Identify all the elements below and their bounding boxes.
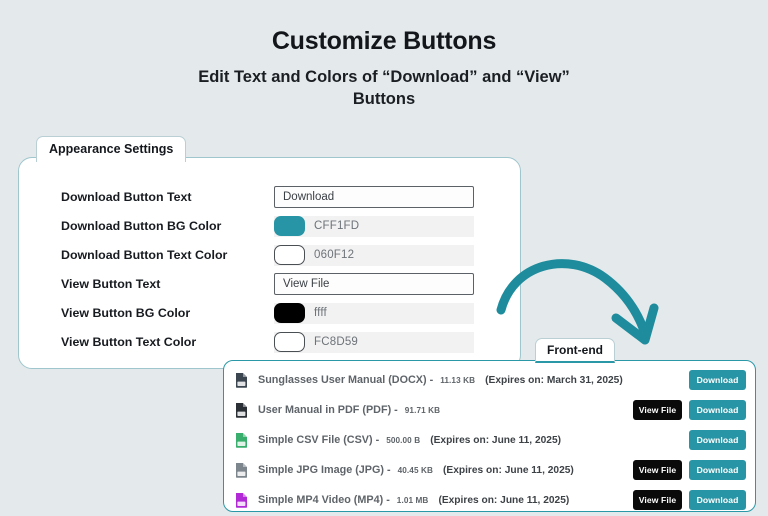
file-name: Sunglasses User Manual (DOCX) - bbox=[258, 374, 433, 386]
download-button[interactable]: Download bbox=[689, 460, 746, 480]
file-info: Simple MP4 Video (MP4) -1.01 MB(Expires … bbox=[258, 494, 633, 506]
page-header: Customize Buttons Edit Text and Colors o… bbox=[0, 26, 768, 111]
file-row: Simple CSV File (CSV) -500.00 B(Expires … bbox=[224, 425, 755, 455]
docx-file-icon bbox=[234, 372, 249, 388]
color-swatch[interactable] bbox=[274, 216, 305, 236]
view-file-button[interactable]: View File bbox=[633, 460, 682, 480]
file-size: 40.45 KB bbox=[398, 466, 433, 475]
settings-row: Download Button TextDownload bbox=[19, 186, 520, 208]
file-name: User Manual in PDF (PDF) - bbox=[258, 404, 398, 416]
color-picker-field[interactable]: 060F12 bbox=[274, 245, 474, 266]
button-text-input[interactable]: View File bbox=[274, 273, 474, 295]
settings-row-label: Download Button BG Color bbox=[61, 219, 274, 233]
row-actions: View FileDownload bbox=[633, 430, 746, 450]
file-size: 11.13 KB bbox=[440, 376, 475, 385]
color-hex-value: ffff bbox=[314, 307, 327, 319]
tab-appearance-settings[interactable]: Appearance Settings bbox=[36, 136, 186, 162]
row-actions: View FileDownload bbox=[633, 460, 746, 480]
color-hex-value: 060F12 bbox=[314, 249, 354, 261]
file-size: 500.00 B bbox=[386, 436, 420, 445]
color-hex-value: FC8D59 bbox=[314, 336, 358, 348]
page-title: Customize Buttons bbox=[0, 26, 768, 56]
jpg-file-icon bbox=[234, 462, 249, 478]
file-size: 91.71 KB bbox=[405, 406, 440, 415]
file-size: 1.01 MB bbox=[397, 496, 429, 505]
settings-row-label: View Button Text Color bbox=[61, 335, 274, 349]
settings-row: View Button Text ColorFC8D59 bbox=[19, 331, 520, 353]
download-button[interactable]: Download bbox=[689, 490, 746, 510]
color-swatch[interactable] bbox=[274, 303, 305, 323]
file-list: Sunglasses User Manual (DOCX) -11.13 KB(… bbox=[224, 365, 755, 515]
settings-row-label: Download Button Text bbox=[61, 190, 274, 204]
row-actions: View FileDownload bbox=[633, 370, 746, 390]
row-actions: View FileDownload bbox=[633, 490, 746, 510]
file-info: User Manual in PDF (PDF) -91.71 KB bbox=[258, 404, 633, 416]
file-expiry: (Expires on: June 11, 2025) bbox=[430, 435, 561, 446]
download-button[interactable]: Download bbox=[689, 430, 746, 450]
settings-row-field: View File bbox=[274, 273, 474, 295]
row-actions: View FileDownload bbox=[633, 400, 746, 420]
view-file-button[interactable]: View File bbox=[633, 400, 682, 420]
settings-row-label: View Button Text bbox=[61, 277, 274, 291]
file-expiry: (Expires on: March 31, 2025) bbox=[485, 375, 623, 386]
settings-row-label: View Button BG Color bbox=[61, 306, 274, 320]
file-name: Simple MP4 Video (MP4) - bbox=[258, 494, 390, 506]
file-expiry: (Expires on: June 11, 2025) bbox=[443, 465, 574, 476]
download-button[interactable]: Download bbox=[689, 370, 746, 390]
file-name: Simple JPG Image (JPG) - bbox=[258, 464, 391, 476]
page-subtitle: Edit Text and Colors of “Download” and “… bbox=[174, 66, 594, 111]
tab-front-end[interactable]: Front-end bbox=[535, 338, 615, 363]
settings-row-label: Download Button Text Color bbox=[61, 248, 274, 262]
color-hex-value: CFF1FD bbox=[314, 220, 359, 232]
file-row: Sunglasses User Manual (DOCX) -11.13 KB(… bbox=[224, 365, 755, 395]
csv-file-icon bbox=[234, 432, 249, 448]
file-info: Simple JPG Image (JPG) -40.45 KB(Expires… bbox=[258, 464, 633, 476]
file-row: Simple MP4 Video (MP4) -1.01 MB(Expires … bbox=[224, 485, 755, 515]
file-row: User Manual in PDF (PDF) -91.71 KBView F… bbox=[224, 395, 755, 425]
color-picker-field[interactable]: CFF1FD bbox=[274, 216, 474, 237]
button-text-input[interactable]: Download bbox=[274, 186, 474, 208]
pdf-file-icon bbox=[234, 402, 249, 418]
settings-row-field: CFF1FD bbox=[274, 216, 474, 237]
settings-row: Download Button Text Color060F12 bbox=[19, 244, 520, 266]
settings-row: View Button TextView File bbox=[19, 273, 520, 295]
file-row: Simple JPG Image (JPG) -40.45 KB(Expires… bbox=[224, 455, 755, 485]
settings-form: Download Button TextDownloadDownload But… bbox=[19, 158, 520, 360]
settings-row-field: 060F12 bbox=[274, 245, 474, 266]
color-picker-field[interactable]: FC8D59 bbox=[274, 332, 474, 353]
mp4-file-icon bbox=[234, 492, 249, 508]
file-info: Sunglasses User Manual (DOCX) -11.13 KB(… bbox=[258, 374, 633, 386]
download-button[interactable]: Download bbox=[689, 400, 746, 420]
front-end-preview-panel: Sunglasses User Manual (DOCX) -11.13 KB(… bbox=[223, 360, 756, 512]
file-info: Simple CSV File (CSV) -500.00 B(Expires … bbox=[258, 434, 633, 446]
color-swatch[interactable] bbox=[274, 245, 305, 265]
settings-row-field: FC8D59 bbox=[274, 332, 474, 353]
file-expiry: (Expires on: June 11, 2025) bbox=[438, 495, 569, 506]
color-swatch[interactable] bbox=[274, 332, 305, 352]
color-picker-field[interactable]: ffff bbox=[274, 303, 474, 324]
settings-row-field: ffff bbox=[274, 303, 474, 324]
appearance-settings-panel: Download Button TextDownloadDownload But… bbox=[18, 157, 521, 369]
file-name: Simple CSV File (CSV) - bbox=[258, 434, 379, 446]
settings-row-field: Download bbox=[274, 186, 474, 208]
view-file-button[interactable]: View File bbox=[633, 490, 682, 510]
settings-row: Download Button BG ColorCFF1FD bbox=[19, 215, 520, 237]
settings-row: View Button BG Colorffff bbox=[19, 302, 520, 324]
